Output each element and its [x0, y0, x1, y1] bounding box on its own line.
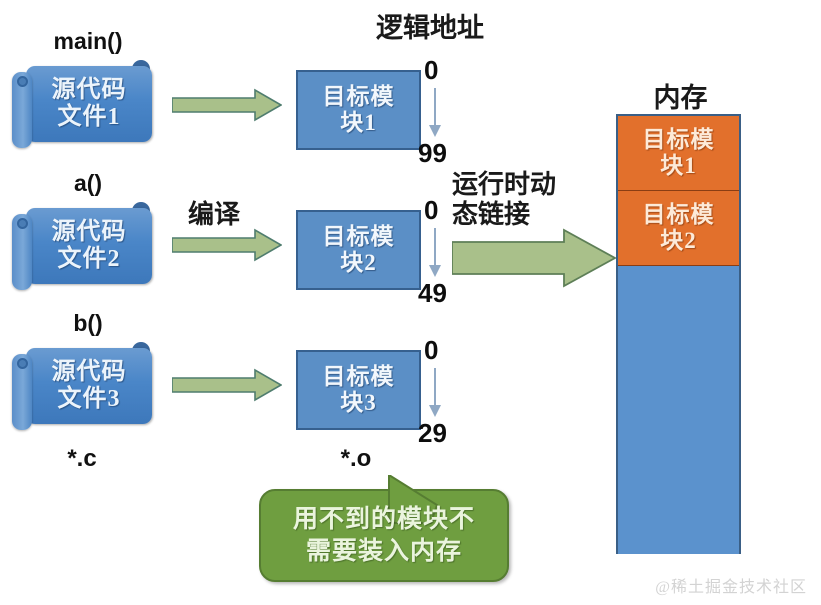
memory-free-region [618, 266, 739, 554]
source-file-label-2: 源代码 文件2 [26, 208, 152, 284]
object-module-box-1[interactable]: 目标模 块1 [296, 70, 421, 150]
memory-slot-line2: 块1 [660, 153, 697, 179]
source-file-label-3: 源代码 文件3 [26, 348, 152, 424]
callout-text: 用不到的模块不 需要装入内存 [259, 489, 509, 582]
source-file-line2: 文件3 [58, 386, 121, 413]
source-fn-label-3: b() [8, 310, 168, 337]
module-addr-start-1: 0 [424, 55, 438, 86]
memory-slot-line1: 目标模 [643, 127, 715, 153]
dynamic-link-line-2: 态链接 [452, 200, 556, 230]
object-module-line2: 块1 [340, 110, 377, 136]
module-addr-end-2: 49 [418, 278, 447, 309]
module-addr-start-2: 0 [424, 195, 438, 226]
source-file-shape-1[interactable]: 源代码 文件1 [12, 60, 152, 148]
source-fn-label-2: a() [8, 170, 168, 197]
memory-column[interactable]: 目标模 块1 目标模 块2 [616, 114, 741, 554]
address-range-arrow-3 [424, 368, 448, 423]
compile-arrow-2 [172, 228, 282, 262]
logical-address-title: 逻辑地址 [340, 6, 520, 45]
dynamic-link-arrow [452, 228, 617, 288]
object-module-line2: 块2 [340, 250, 377, 276]
address-range-arrow-2 [424, 228, 448, 283]
callout-line-2: 需要装入内存 [306, 536, 462, 567]
memory-slot-1[interactable]: 目标模 块1 [618, 116, 739, 191]
memory-slot-2[interactable]: 目标模 块2 [618, 191, 739, 266]
source-fn-label-1: main() [8, 28, 168, 55]
watermark-label: @稀土掘金技术社区 [655, 573, 807, 597]
callout-line-1: 用不到的模块不 [293, 504, 475, 535]
module-addr-end-1: 99 [418, 138, 447, 169]
source-file-line1: 源代码 [52, 77, 127, 104]
memory-slot-line2: 块2 [660, 228, 697, 254]
module-addr-start-3: 0 [424, 335, 438, 366]
source-file-line1: 源代码 [52, 359, 127, 386]
source-file-line2: 文件1 [58, 104, 121, 131]
dynamic-link-label: 运行时动 态链接 [452, 170, 556, 230]
object-module-line2: 块3 [340, 390, 377, 416]
source-file-line2: 文件2 [58, 246, 121, 273]
compile-arrow-1 [172, 88, 282, 122]
memory-slot-line1: 目标模 [643, 202, 715, 228]
compile-arrow-3 [172, 368, 282, 402]
memory-title: 内存 [598, 76, 763, 115]
object-module-line1: 目标模 [323, 364, 395, 390]
module-addr-end-3: 29 [418, 418, 447, 449]
source-extension-label: *.c [12, 445, 152, 473]
object-extension-label: *.o [296, 445, 416, 473]
object-module-box-2[interactable]: 目标模 块2 [296, 210, 421, 290]
source-file-shape-2[interactable]: 源代码 文件2 [12, 202, 152, 290]
object-module-line1: 目标模 [323, 224, 395, 250]
address-range-arrow-1 [424, 88, 448, 143]
source-file-label-1: 源代码 文件1 [26, 66, 152, 142]
source-file-line1: 源代码 [52, 219, 127, 246]
compile-label: 编译 [188, 200, 240, 230]
dynamic-link-line-1: 运行时动 [452, 170, 556, 200]
object-module-line1: 目标模 [323, 84, 395, 110]
source-file-shape-3[interactable]: 源代码 文件3 [12, 342, 152, 430]
diagram-canvas: 逻辑地址 内存 main() 源代码 文件1 a() 源代码 文件2 b() 源… [0, 0, 821, 605]
object-module-box-3[interactable]: 目标模 块3 [296, 350, 421, 430]
callout-bubble[interactable]: 用不到的模块不 需要装入内存 [259, 477, 509, 582]
